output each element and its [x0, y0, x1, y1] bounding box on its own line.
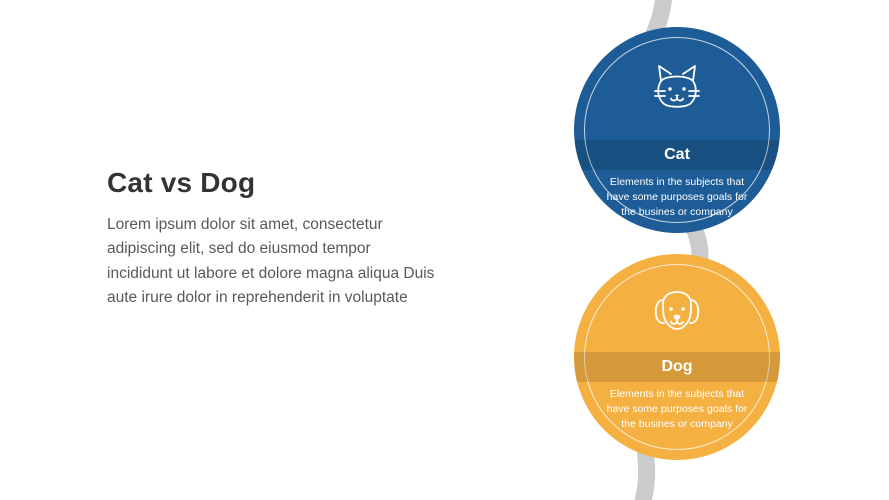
dog-icon: [574, 288, 780, 340]
node-cat[interactable]: Cat Elements in the subjects that have s…: [574, 27, 780, 233]
page-description: Lorem ipsum dolor sit amet, consectetur …: [107, 213, 437, 311]
page-title: Cat vs Dog: [107, 168, 467, 199]
node-dog-description: Elements in the subjects that have some …: [574, 387, 780, 432]
node-cat-description: Elements in the subjects that have some …: [574, 175, 780, 220]
cat-icon: [574, 61, 780, 113]
text-block: Cat vs Dog Lorem ipsum dolor sit amet, c…: [107, 168, 467, 311]
node-dog[interactable]: Dog Elements in the subjects that have s…: [574, 254, 780, 460]
slide-canvas: Cat vs Dog Lorem ipsum dolor sit amet, c…: [0, 0, 889, 500]
node-cat-label: Cat: [574, 140, 780, 170]
node-dog-label: Dog: [574, 352, 780, 382]
